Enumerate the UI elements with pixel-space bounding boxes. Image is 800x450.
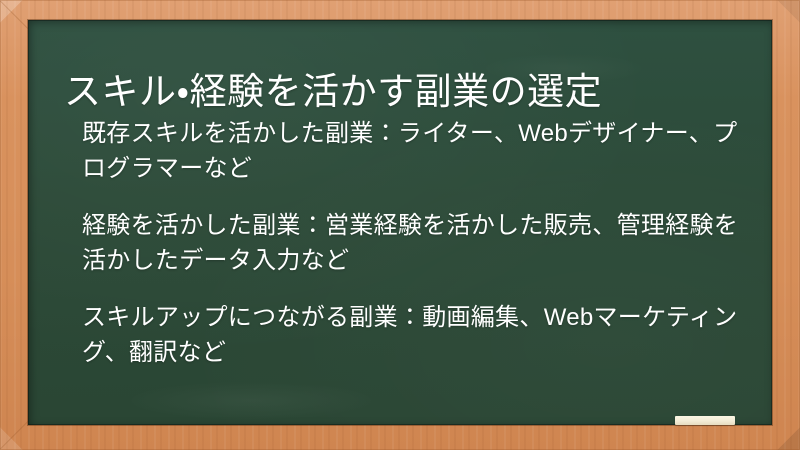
- list-item: 経験を活かした副業：営業経験を活かした販売、管理経験を活かしたデータ入力など: [82, 208, 754, 278]
- list-item: スキルアップにつながる副業：動画編集、Webマーケティング、翻訳など: [82, 300, 754, 370]
- list-item: 既存スキルを活かした副業：ライター、Webデザイナー、プログラマーなど: [82, 116, 754, 186]
- chalkboard-surface: スキル・経験を活かす副業の選定 既存スキルを活かした副業：ライター、Webデザイ…: [28, 20, 772, 425]
- chalkboard-slide: スキル・経験を活かす副業の選定 既存スキルを活かした副業：ライター、Webデザイ…: [0, 0, 800, 450]
- page-title: スキル・経験を活かす副業の選定: [64, 69, 754, 115]
- bullet-list: 既存スキルを活かした副業：ライター、Webデザイナー、プログラマーなど 経験を活…: [82, 116, 754, 370]
- chalk-stick-icon: [675, 416, 735, 425]
